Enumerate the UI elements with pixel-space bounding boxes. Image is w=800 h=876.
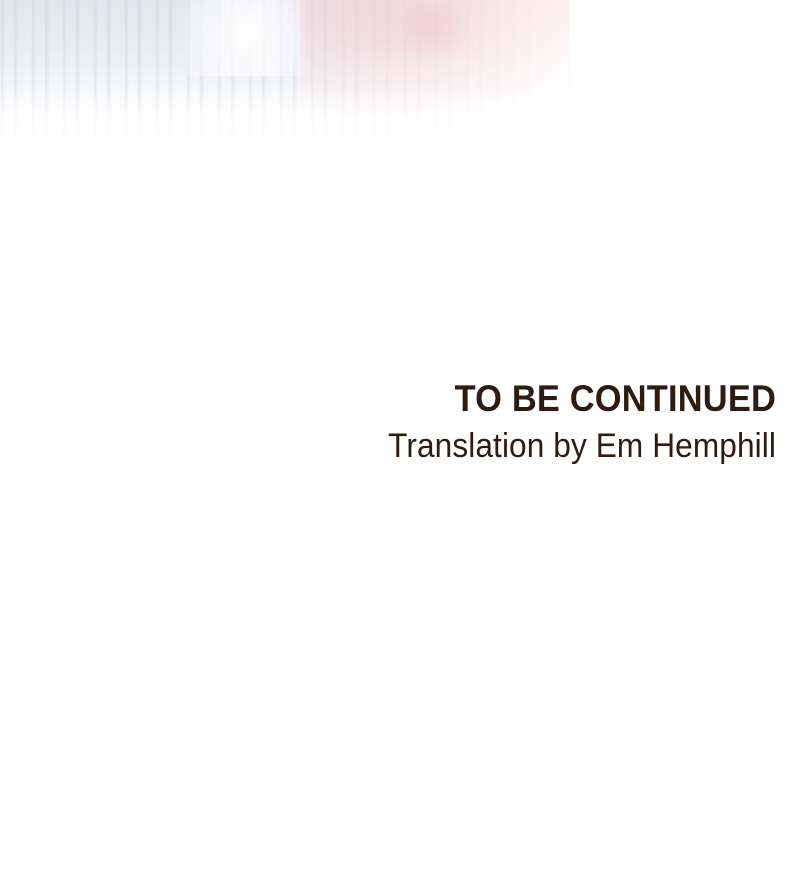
translation-credit: Translation by Em Hemphill [292,427,776,465]
ghost-highlight-blob [186,0,306,76]
to-be-continued-heading: TO BE CONTINUED [292,378,776,420]
ghost-warm-wash [300,0,570,120]
ghost-warm-accent [392,0,476,58]
comic-page: TO BE CONTINUED Translation by Em Hemphi… [0,0,800,876]
ghost-bottom-fade [0,88,600,150]
ghost-vertical-bands [0,0,560,140]
end-credits-block: TO BE CONTINUED Translation by Em Hemphi… [256,378,776,465]
faded-panel-remnant [0,0,800,150]
